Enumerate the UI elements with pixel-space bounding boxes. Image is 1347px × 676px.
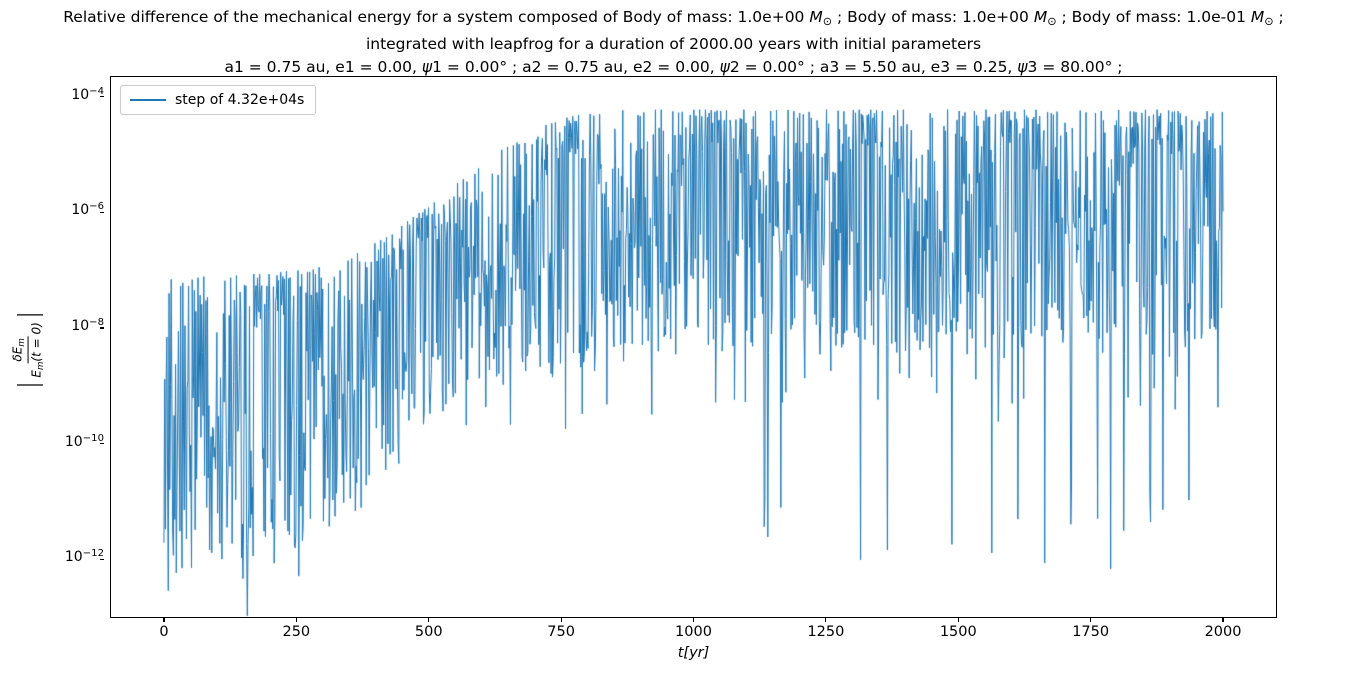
x-tick-label: 0 bbox=[159, 624, 168, 640]
x-tick-mark bbox=[693, 618, 694, 622]
solar-mass-symbol-2: M bbox=[1034, 8, 1047, 26]
energy-subscript-num: m bbox=[17, 338, 27, 346]
energy-subscript-den: m bbox=[36, 362, 46, 370]
title-line-3-part-a: a1 = 0.75 au, e1 = 0.00, bbox=[224, 58, 421, 76]
x-tick-label: 2000 bbox=[1205, 624, 1242, 640]
x-tick-label: 500 bbox=[415, 624, 443, 640]
fraction-denominator: Em(t = 0) bbox=[29, 320, 46, 379]
abs-bar-close: | bbox=[18, 311, 39, 320]
y-axis-label-text: | δEm Em(t = 0) | bbox=[10, 311, 46, 390]
title-line-3-part-b: 1 = 0.00° ; a2 = 0.75 au, e2 = 0.00, bbox=[432, 58, 719, 76]
title-line-1-part-c: ; Body of mass: 1.0e-01 bbox=[1057, 8, 1251, 26]
solar-mass-subscript-3: ⊙ bbox=[1264, 15, 1273, 28]
x-tick-mark bbox=[428, 618, 429, 622]
title-line-1: Relative difference of the mechanical en… bbox=[0, 6, 1347, 33]
x-tick-mark bbox=[958, 618, 959, 622]
energy-error-line-plot[interactable] bbox=[111, 77, 1276, 617]
x-tick-label: 250 bbox=[282, 624, 310, 640]
relative-energy-fraction: δEm Em(t = 0) bbox=[10, 320, 46, 379]
fraction-numerator: δEm bbox=[10, 336, 28, 363]
figure-canvas-root: Relative difference of the mechanical en… bbox=[0, 0, 1347, 676]
x-tick-mark bbox=[561, 618, 562, 622]
psi-symbol-1: ψ bbox=[422, 58, 432, 76]
psi-symbol-3: ψ bbox=[1017, 58, 1027, 76]
x-axis-label-unit: [yr] bbox=[683, 645, 709, 661]
solar-mass-subscript-2: ⊙ bbox=[1047, 15, 1056, 28]
x-tick-label: 1000 bbox=[675, 624, 712, 640]
energy-symbol-den: E bbox=[30, 370, 44, 378]
y-tick-label: 10−10 bbox=[12, 433, 104, 450]
x-axis-label: t[yr] bbox=[110, 645, 1277, 661]
energy-time-argument: (t = 0) bbox=[30, 322, 44, 361]
y-tick-label: 10−6 bbox=[12, 201, 104, 218]
solar-mass-subscript-1: ⊙ bbox=[823, 15, 832, 28]
y-axis-label: | δEm Em(t = 0) | bbox=[10, 300, 46, 400]
solar-mass-symbol-1: M bbox=[809, 8, 822, 26]
legend-box[interactable]: step of 4.32e+04s bbox=[120, 85, 316, 115]
plot-axes[interactable]: step of 4.32e+04s bbox=[110, 76, 1277, 618]
x-tick-mark bbox=[163, 618, 164, 622]
x-tick-mark bbox=[1222, 618, 1223, 622]
x-tick-label: 1250 bbox=[807, 624, 844, 640]
title-line-2: integrated with leapfrog for a duration … bbox=[0, 33, 1347, 56]
legend-line-swatch bbox=[130, 99, 166, 101]
title-line-3-part-c: 2 = 0.00° ; a3 = 5.50 au, e3 = 0.25, bbox=[730, 58, 1017, 76]
title-line-1-part-d: ; bbox=[1274, 8, 1284, 26]
y-tick-label: 10−12 bbox=[12, 548, 104, 565]
x-tick-label: 1750 bbox=[1072, 624, 1109, 640]
x-tick-mark bbox=[1090, 618, 1091, 622]
x-tick-label: 1500 bbox=[940, 624, 977, 640]
plot-title: Relative difference of the mechanical en… bbox=[0, 6, 1347, 79]
x-tick-mark bbox=[296, 618, 297, 622]
title-line-3-part-d: 3 = 80.00° ; bbox=[1028, 58, 1123, 76]
psi-symbol-2: ψ bbox=[720, 58, 730, 76]
x-tick-label: 750 bbox=[547, 624, 575, 640]
title-line-1-part-b: ; Body of mass: 1.0e+00 bbox=[832, 8, 1034, 26]
legend-label: step of 4.32e+04s bbox=[175, 92, 304, 108]
energy-symbol-num: E bbox=[10, 347, 24, 355]
title-line-1-part-a: Relative difference of the mechanical en… bbox=[63, 8, 809, 26]
solar-mass-symbol-3: M bbox=[1251, 8, 1264, 26]
y-tick-label: 10−4 bbox=[12, 86, 104, 103]
abs-bar-open: | bbox=[18, 381, 39, 390]
x-tick-mark bbox=[825, 618, 826, 622]
delta-symbol: δ bbox=[10, 354, 24, 361]
